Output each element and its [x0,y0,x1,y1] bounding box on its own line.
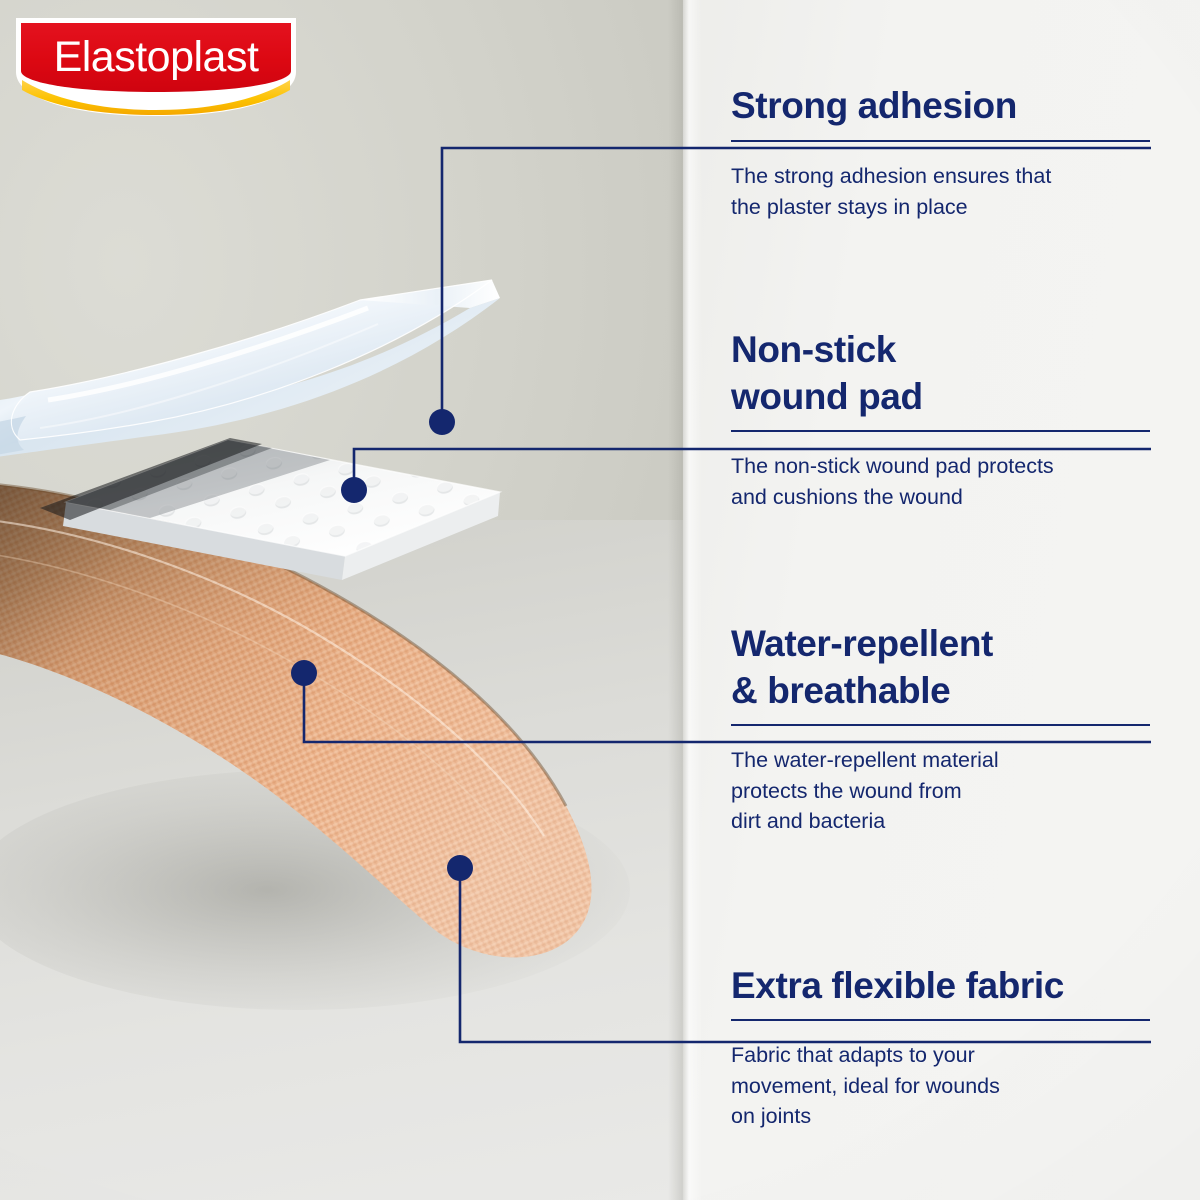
feature-body-line: on joints [731,1104,811,1128]
feature-body-line: Fabric that adapts to your [731,1043,975,1067]
feature-title-non-stick-wound-pad: Non-stick wound pad [731,326,1151,420]
feature-body-strong-adhesion: The strong adhesion ensures that the pla… [731,161,1151,222]
feature-title-line: Water-repellent [731,623,993,664]
feature-body-extra-flexible-fabric: Fabric that adapts to your movement, ide… [731,1040,1151,1132]
feature-body-line: and cushions the wound [731,485,963,509]
feature-title-water-repellent: Water-repellent & breathable [731,620,1151,714]
product-illustration [0,250,700,990]
backing-film-layer [0,280,500,468]
feature-body-line: The water-repellent material [731,748,999,772]
feature-body-line: The strong adhesion ensures that [731,164,1051,188]
feature-divider [731,724,1150,726]
feature-body-line: movement, ideal for wounds [731,1074,1000,1098]
brand-logo-wordmark: Elastoplast [54,33,259,81]
brand-logo: Elastoplast [12,14,300,120]
feature-title-line: & breathable [731,670,950,711]
feature-body-non-stick-wound-pad: The non-stick wound pad protects and cus… [731,451,1151,512]
feature-block-water-repellent: Water-repellent & breathable The water-r… [731,620,1151,837]
feature-title-line: Strong adhesion [731,85,1017,126]
feature-title-line: wound pad [731,376,923,417]
feature-divider [731,430,1150,432]
feature-block-extra-flexible-fabric: Extra flexible fabric Fabric that adapts… [731,962,1151,1132]
feature-divider [731,140,1150,142]
feature-title-line: Extra flexible fabric [731,965,1064,1006]
feature-body-line: protects the wound from [731,779,962,803]
infographic-canvas: Elastoplast Strong adhesion The str [0,0,1200,1200]
feature-block-non-stick-wound-pad: Non-stick wound pad The non-stick wound … [731,326,1151,512]
feature-title-strong-adhesion: Strong adhesion [731,82,1151,129]
feature-title-line: Non-stick [731,329,896,370]
feature-body-line: the plaster stays in place [731,195,968,219]
feature-title-extra-flexible-fabric: Extra flexible fabric [731,962,1151,1009]
feature-block-strong-adhesion: Strong adhesion The strong adhesion ensu… [731,82,1151,222]
feature-divider [731,1019,1150,1021]
feature-body-water-repellent: The water-repellent material protects th… [731,745,1151,837]
feature-body-line: dirt and bacteria [731,809,885,833]
feature-body-line: The non-stick wound pad protects [731,454,1054,478]
